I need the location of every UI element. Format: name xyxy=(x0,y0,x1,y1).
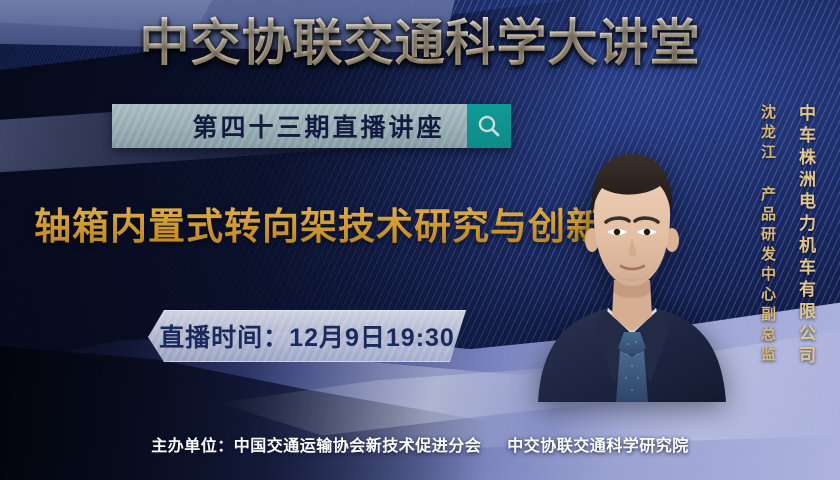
lecture-topic: 轴箱内置式转向架技术研究与创新 xyxy=(34,196,604,250)
footer-organizer-1: 中国交通运输协会新技术促进分会 xyxy=(234,438,482,455)
speaker-organization: 中车株洲电力机车有限公司 xyxy=(793,104,818,368)
broadcast-time-banner: 直播时间：12月9日19:30 xyxy=(148,310,466,362)
live-lecture-poster: 中交协联交通科学大讲堂 中交协联交通科学大讲堂 第四十三期直播讲座 轴箱内置式转… xyxy=(0,0,840,480)
footer-organizer-2: 中交协联交通科学研究院 xyxy=(507,438,689,455)
page-title: 中交协联交通科学大讲堂 xyxy=(0,16,840,71)
broadcast-time-text: 直播时间：12月9日19:30 xyxy=(159,318,455,354)
speaker-portrait xyxy=(536,134,728,402)
episode-banner: 第四十三期直播讲座 xyxy=(112,104,511,148)
episode-banner-body: 第四十三期直播讲座 xyxy=(112,104,467,148)
search-icon[interactable] xyxy=(467,104,511,148)
footer-organizers: 主办单位：中国交通运输协会新技术促进分会中交协联交通科学研究院 xyxy=(0,432,840,456)
speaker-name-title: 沈龙江 产品研发中心副总监 xyxy=(757,104,778,366)
episode-label: 第四十三期直播讲座 xyxy=(134,108,444,144)
footer-prefix: 主办单位： xyxy=(151,438,234,455)
